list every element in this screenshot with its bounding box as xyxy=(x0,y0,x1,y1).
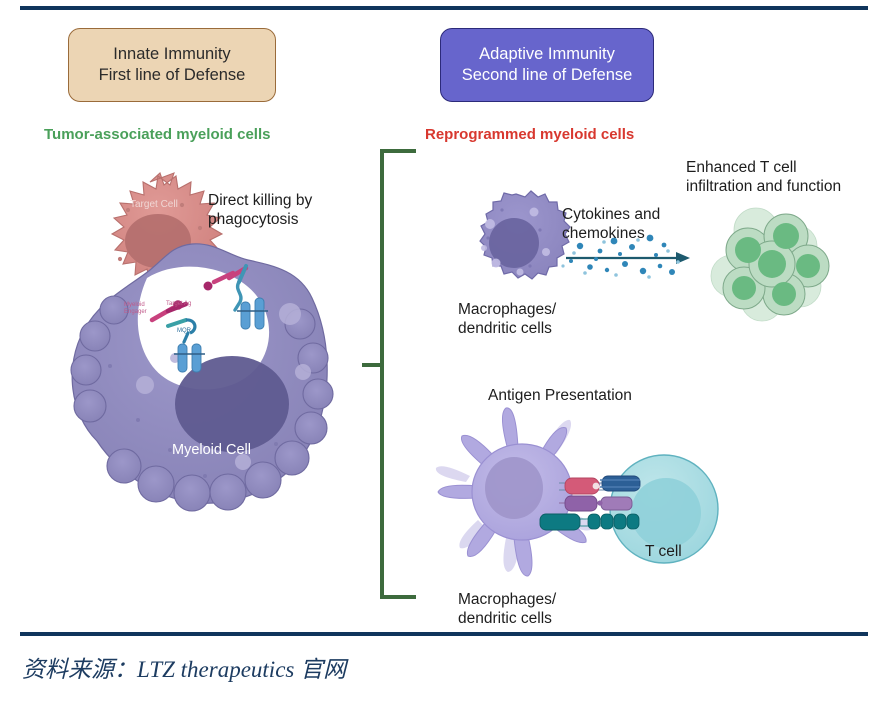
myeloid-cell-label: Myeloid Cell xyxy=(172,442,251,458)
macrophages-dendritic-bottom-label: Macrophages/ dendritic cells xyxy=(458,591,556,629)
macrophages-dendritic-top-label: Macrophages/ dendritic cells xyxy=(458,301,556,339)
macrophage-top-art xyxy=(480,191,570,279)
diagram-canvas: Innate Immunity First line of Defense Ad… xyxy=(0,14,888,628)
source-caption: 资料来源：LTZ therapeutics 官网 xyxy=(22,650,346,684)
diagram-artwork xyxy=(0,14,888,628)
direct-killing-label: Direct killing by phagocytosis xyxy=(208,192,312,230)
tcell-cluster-art xyxy=(711,208,829,321)
myeloid-cell-art xyxy=(71,244,333,511)
antigen-presentation-label: Antigen Presentation xyxy=(488,387,632,406)
target-cell-label: Target Cell xyxy=(130,199,178,210)
top-rule xyxy=(20,6,868,10)
mqr-label: MQR xyxy=(177,328,191,335)
bottom-rule xyxy=(20,632,868,636)
cytokines-chemokines-label: Cytokines and chemokines xyxy=(562,206,660,244)
tcell-label: T cell xyxy=(645,543,682,562)
myeloid-engager-label: Myeloid Engager xyxy=(124,302,147,315)
target-ag-label: Target Ag xyxy=(166,301,191,308)
figure-page: Innate Immunity First line of Defense Ad… xyxy=(0,0,888,708)
enhanced-tcell-label: Enhanced T cell infiltration and functio… xyxy=(686,159,841,197)
